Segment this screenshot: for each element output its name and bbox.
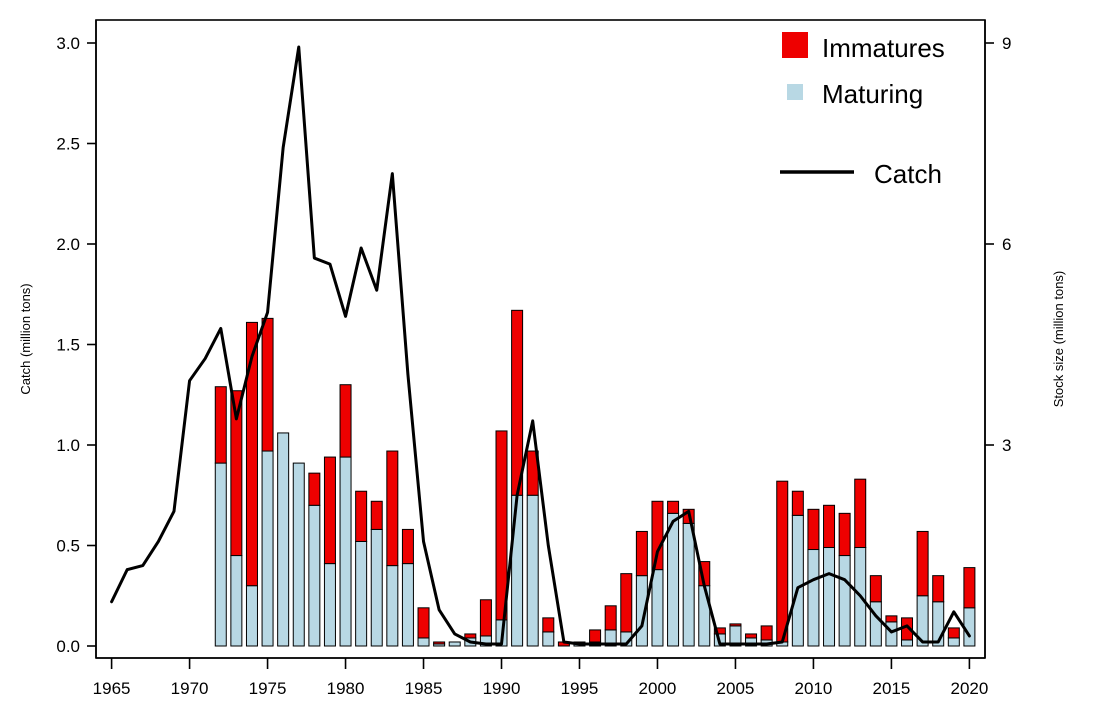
bar-segment-maturing	[870, 602, 881, 646]
bar-segment-immatures	[933, 576, 944, 602]
bar-segment-maturing	[792, 515, 803, 646]
bar-segment-maturing	[652, 570, 663, 646]
x-axis-tick-label: 1970	[171, 679, 209, 698]
bar-segment-immatures	[636, 531, 647, 575]
bar-group	[278, 433, 289, 646]
bar-group	[324, 457, 335, 646]
left-axis-tick-label: 0.5	[56, 537, 80, 556]
x-axis-tick-label: 2020	[950, 679, 988, 698]
bar-segment-immatures	[340, 385, 351, 457]
bar-group	[527, 451, 538, 646]
bar-segment-maturing	[839, 556, 850, 646]
bar-segment-immatures	[886, 616, 897, 622]
legend-swatch-immatures	[782, 32, 808, 58]
bar-segment-immatures	[512, 310, 523, 495]
bar-segment-maturing	[402, 564, 413, 646]
bar-segment-immatures	[777, 481, 788, 642]
left-axis-tick-label: 2.5	[56, 135, 80, 154]
right-axis: 369Stock size (million tons)	[985, 20, 1066, 658]
bar-group	[309, 473, 320, 646]
x-axis-tick-label: 2015	[873, 679, 911, 698]
bar-segment-immatures	[621, 574, 632, 632]
bar-group	[293, 463, 304, 646]
bar-group	[792, 491, 803, 646]
bar-segment-immatures	[652, 501, 663, 569]
bar-segment-maturing	[527, 495, 538, 646]
bar-segment-immatures	[964, 568, 975, 608]
bar-segment-immatures	[870, 576, 881, 602]
bar-segment-maturing	[668, 513, 679, 646]
chart-container: 0.00.51.01.52.02.53.0Catch (million tons…	[0, 0, 1094, 726]
bar-group	[948, 628, 959, 646]
bar-segment-maturing	[293, 463, 304, 646]
right-axis-tick-label: 6	[1002, 235, 1011, 254]
bar-group	[387, 451, 398, 646]
left-axis-tick-label: 0.0	[56, 637, 80, 656]
bottom-axis: 1965197019751980198519901995200020052010…	[93, 658, 989, 698]
bar-segment-immatures	[480, 600, 491, 636]
bar-segment-immatures	[746, 634, 757, 638]
bar-group	[371, 501, 382, 646]
bar-segment-maturing	[449, 642, 460, 646]
bar-segment-maturing	[246, 586, 257, 646]
stock-and-catch-chart: 0.00.51.01.52.02.53.0Catch (million tons…	[0, 0, 1094, 726]
bar-segment-maturing	[824, 548, 835, 646]
x-axis-tick-label: 1975	[249, 679, 287, 698]
bar-segment-maturing	[543, 632, 554, 646]
bar-segment-maturing	[356, 541, 367, 646]
x-axis-tick-label: 2005	[717, 679, 755, 698]
bar-group	[917, 531, 928, 646]
x-axis-tick-label: 1995	[561, 679, 599, 698]
bar-segment-immatures	[387, 451, 398, 566]
bar-segment-immatures	[262, 318, 273, 451]
bar-segment-immatures	[855, 479, 866, 547]
bar-segment-maturing	[309, 505, 320, 646]
bar-segment-immatures	[324, 457, 335, 564]
bar-group	[480, 600, 491, 646]
bar-group	[855, 479, 866, 646]
right-axis-tick-label: 3	[1002, 436, 1011, 455]
bar-group	[418, 608, 429, 646]
bar-segment-immatures	[496, 431, 507, 620]
x-axis-tick-label: 1980	[327, 679, 365, 698]
bar-segment-immatures	[668, 501, 679, 513]
bar-segment-maturing	[948, 638, 959, 646]
bar-segment-immatures	[761, 626, 772, 640]
x-axis-tick-label: 1965	[93, 679, 131, 698]
bar-segment-maturing	[964, 608, 975, 646]
right-axis-title: Stock size (million tons)	[1051, 271, 1066, 408]
bar-segment-immatures	[839, 513, 850, 555]
bar-segment-immatures	[590, 630, 601, 642]
bar-group	[543, 618, 554, 646]
bar-segment-immatures	[543, 618, 554, 632]
bar-segment-immatures	[792, 491, 803, 515]
bar-segment-immatures	[371, 501, 382, 529]
x-axis-tick-label: 1990	[483, 679, 521, 698]
plot-frame	[96, 20, 985, 658]
bar-group	[605, 606, 616, 646]
legend-label-immatures: Immatures	[822, 33, 945, 63]
bar-segment-immatures	[605, 606, 616, 630]
bar-segment-maturing	[886, 622, 897, 646]
bar-segment-immatures	[215, 387, 226, 463]
bar-segment-immatures	[917, 531, 928, 595]
bar-segment-immatures	[948, 628, 959, 638]
bar-segment-maturing	[231, 556, 242, 646]
bar-segment-maturing	[418, 638, 429, 646]
bar-group	[340, 385, 351, 646]
bar-segment-maturing	[371, 529, 382, 646]
bar-segment-maturing	[340, 457, 351, 646]
bar-group	[231, 391, 242, 646]
left-axis-tick-label: 2.0	[56, 235, 80, 254]
bar-group	[262, 318, 273, 646]
left-axis-title: Catch (million tons)	[18, 283, 33, 394]
bar-segment-immatures	[418, 608, 429, 638]
bar-segment-immatures	[824, 505, 835, 547]
bar-group	[434, 642, 445, 646]
plot-border	[96, 20, 985, 658]
left-axis: 0.00.51.01.52.02.53.0Catch (million tons…	[18, 20, 96, 658]
bar-segment-maturing	[278, 433, 289, 646]
bar-segment-maturing	[902, 640, 913, 646]
x-axis-tick-label: 2010	[795, 679, 833, 698]
bar-segment-immatures	[730, 624, 741, 626]
bar-segment-immatures	[465, 634, 476, 638]
bar-segment-immatures	[402, 529, 413, 563]
left-axis-tick-label: 1.5	[56, 336, 80, 355]
bar-group	[621, 574, 632, 646]
bar-segment-immatures	[356, 491, 367, 541]
bar-group	[402, 529, 413, 646]
x-axis-tick-label: 1985	[405, 679, 443, 698]
bar-segment-immatures	[309, 473, 320, 505]
bar-segment-maturing	[387, 566, 398, 646]
bar-segment-maturing	[324, 564, 335, 646]
bar-segment-immatures	[434, 642, 445, 644]
left-axis-tick-label: 1.0	[56, 436, 80, 455]
bar-group	[777, 481, 788, 646]
bar-group	[356, 491, 367, 646]
bar-segment-maturing	[808, 550, 819, 646]
legend: ImmaturesMaturingCatch	[780, 32, 945, 189]
bar-segment-maturing	[215, 463, 226, 646]
legend-swatch-maturing	[787, 84, 803, 100]
legend-label-catch: Catch	[874, 159, 942, 189]
bar-segment-maturing	[683, 523, 694, 646]
bar-segment-immatures	[808, 509, 819, 549]
bar-group	[215, 387, 226, 646]
right-axis-tick-label: 9	[1002, 34, 1011, 53]
bar-group	[449, 642, 460, 646]
x-axis-tick-label: 2000	[639, 679, 677, 698]
legend-label-maturing: Maturing	[822, 79, 923, 109]
bar-segment-maturing	[262, 451, 273, 646]
left-axis-tick-label: 3.0	[56, 34, 80, 53]
